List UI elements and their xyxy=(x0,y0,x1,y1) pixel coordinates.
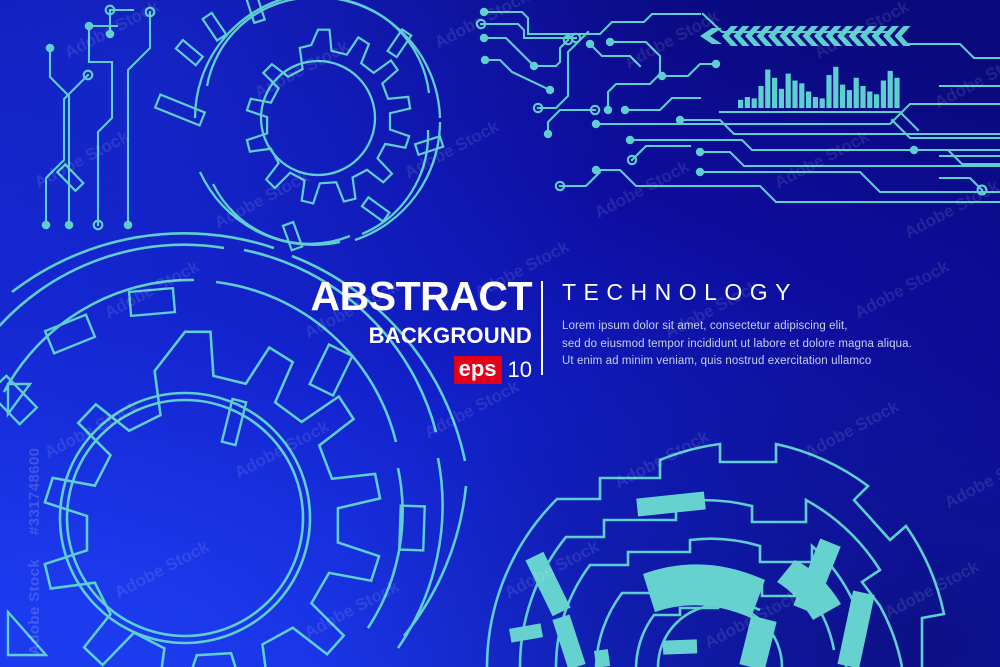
eps-badge: eps xyxy=(454,356,502,384)
bar xyxy=(779,89,784,108)
bar xyxy=(752,98,757,108)
bar xyxy=(894,78,899,108)
bar xyxy=(860,86,865,108)
body-line: Ut enim ad minim veniam, quis nostrud ex… xyxy=(562,353,932,371)
bar xyxy=(745,97,750,108)
bar xyxy=(806,92,811,109)
eps-version-row: eps 10 xyxy=(300,356,532,384)
eps-version-number: 10 xyxy=(508,359,532,381)
stock-image-canvas: ABSTRACT BACKGROUND eps 10 TECHNOLOGY Lo… xyxy=(0,0,1000,667)
bar xyxy=(820,98,825,108)
bar xyxy=(758,86,763,108)
bar xyxy=(813,97,818,108)
body-line: sed do eiusmod tempor incididunt ut labo… xyxy=(562,336,932,354)
page-subtitle: BACKGROUND xyxy=(300,325,532,347)
body-line: Lorem ipsum dolor sit amet, consectetur … xyxy=(562,318,932,336)
bar xyxy=(867,92,872,109)
bar xyxy=(833,67,838,108)
body-paragraph: Lorem ipsum dolor sit amet, consectetur … xyxy=(562,318,932,371)
bar xyxy=(786,74,791,108)
bar xyxy=(792,81,797,109)
bar xyxy=(738,100,743,108)
vertical-divider xyxy=(541,281,543,375)
bar xyxy=(854,78,859,108)
bar xyxy=(874,94,879,108)
right-text-group: TECHNOLOGY Lorem ipsum dolor sit amet, c… xyxy=(562,281,932,371)
watermark-strip xyxy=(0,0,22,667)
page-title: ABSTRACT xyxy=(300,276,532,317)
technology-heading: TECHNOLOGY xyxy=(562,281,932,304)
bar xyxy=(881,81,886,109)
bar xyxy=(772,78,777,108)
bar xyxy=(888,71,893,108)
bar xyxy=(765,70,770,109)
bar xyxy=(799,83,804,108)
bar xyxy=(847,90,852,108)
headline-group: ABSTRACT BACKGROUND eps 10 xyxy=(300,276,532,384)
bar xyxy=(840,85,845,108)
bar xyxy=(826,75,831,108)
